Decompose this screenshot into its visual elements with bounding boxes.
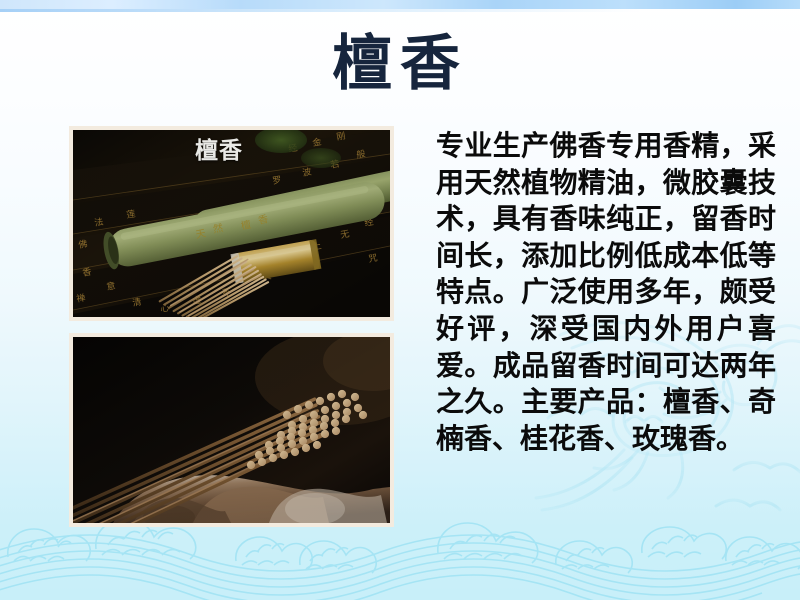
top-accent-stripe	[0, 0, 800, 9]
top-accent-stripe-thin	[0, 9, 640, 12]
body-paragraph: 专业生产佛香专用香精，采用天然植物精油，微胶囊技术，具有香味纯正，留香时间长，添…	[436, 128, 776, 457]
presentation-slide: 檀香	[0, 0, 800, 600]
green-incense-tubes-photo[interactable]: 佛 香 禅 意 清 心 妙 法 莲 经 金 刚 般 若 波	[69, 126, 394, 321]
photo-image-2	[73, 337, 390, 523]
photo-column: 佛 香 禅 意 清 心 妙 法 莲 经 金 刚 般 若 波	[69, 126, 394, 527]
page-title: 檀香	[0, 30, 800, 98]
photo-caption-label: 檀香	[195, 138, 243, 165]
brown-incense-sticks-photo[interactable]	[69, 333, 394, 527]
